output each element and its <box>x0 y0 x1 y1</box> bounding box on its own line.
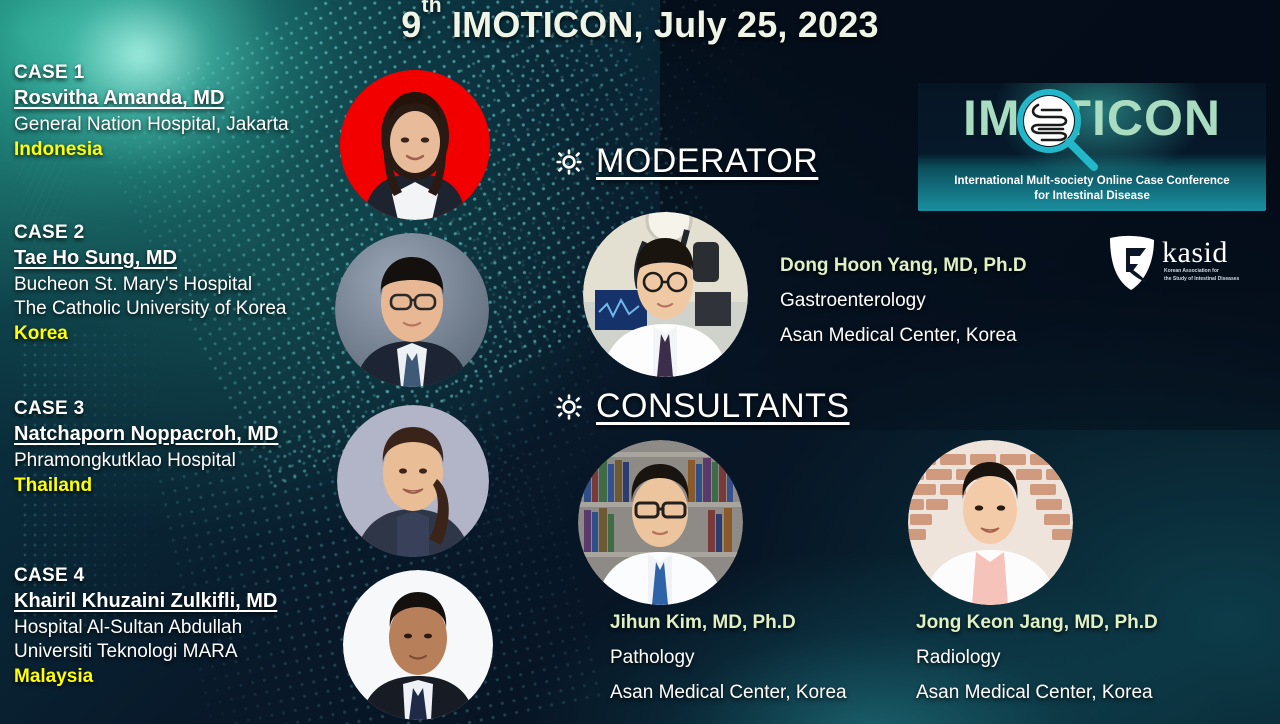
case-1-photo <box>340 70 490 220</box>
case-country: Malaysia <box>14 666 277 688</box>
case-country: Korea <box>14 323 286 345</box>
case-affiliation-line-2: The Catholic University of Korea <box>14 297 286 321</box>
consultant-1-photo <box>578 440 743 605</box>
moderator-details: Dong Hoon Yang, MD, Ph.D Gastroenterolog… <box>780 255 1027 347</box>
case-affiliation-line-1: Hospital Al-Sultan Abdullah <box>14 616 277 640</box>
presentation-slide: 9th IMOTICON, July 25, 2023 CASE 1 Rosvi… <box>0 0 1280 724</box>
moderator-section-heading: MODERATOR <box>556 142 818 181</box>
case-3-portrait <box>337 405 489 557</box>
case-2-portrait <box>335 233 489 387</box>
moderator-portrait <box>583 212 748 377</box>
case-country: Thailand <box>14 475 278 497</box>
case-affiliation: Phramongkutklao Hospital <box>14 449 278 473</box>
case-4-portrait <box>343 570 493 720</box>
person-name: Jong Keon Jang, MD, Ph.D <box>916 612 1158 634</box>
title-ordinal-suffix: th <box>422 0 442 17</box>
case-presenter-name: Natchaporn Noppacroh, MD <box>14 423 278 446</box>
case-presenter-name: Khairil Khuzaini Zulkifli, MD <box>14 590 277 613</box>
case-presenter-name: Tae Ho Sung, MD <box>14 247 286 270</box>
case-number: CASE 2 <box>14 222 286 244</box>
consultants-section-heading: CONSULTANTS <box>556 387 850 426</box>
title-ordinal: 9 <box>401 4 421 45</box>
consultants-heading-label: CONSULTANTS <box>596 387 850 426</box>
case-number: CASE 1 <box>14 62 289 84</box>
person-specialty: Radiology <box>916 647 1158 669</box>
case-number: CASE 4 <box>14 565 277 587</box>
gear-icon <box>556 394 582 420</box>
consultant-1-portrait <box>578 440 743 605</box>
imoticon-subtitle-line-2: for Intestinal Disease <box>928 189 1256 205</box>
kasid-subtitle-line-1: Korean Association for <box>1164 268 1256 276</box>
gear-icon <box>556 149 582 175</box>
moderator-heading-label: MODERATOR <box>596 142 818 181</box>
case-affiliation-line-2: Universiti Teknologi MARA <box>14 640 277 664</box>
person-specialty: Pathology <box>610 647 847 669</box>
person-name: Jihun Kim, MD, Ph.D <box>610 612 847 634</box>
consultant-2-portrait <box>908 440 1073 605</box>
case-1-portrait <box>340 70 490 220</box>
case-4-photo <box>343 570 493 720</box>
consultant-2-photo <box>908 440 1073 605</box>
case-number: CASE 3 <box>14 398 278 420</box>
person-organization: Asan Medical Center, Korea <box>916 682 1158 704</box>
case-presenter-name: Rosvitha Amanda, MD <box>14 87 289 110</box>
slide-title: 9th IMOTICON, July 25, 2023 <box>0 4 1280 46</box>
kasid-subtitle-line-2: the Study of Intestinal Diseases <box>1164 276 1256 284</box>
case-block-4: CASE 4 Khairil Khuzaini Zulkifli, MD Hos… <box>14 565 277 688</box>
kasid-wordmark: kasid <box>1162 236 1228 270</box>
imoticon-subtitle: International Mult-society Online Case C… <box>918 174 1266 205</box>
consultant-2-details: Jong Keon Jang, MD, Ph.D Radiology Asan … <box>916 612 1158 704</box>
person-name: Dong Hoon Yang, MD, Ph.D <box>780 255 1027 277</box>
kasid-subtitle: Korean Association for the Study of Inte… <box>1164 268 1256 283</box>
case-3-photo <box>337 405 489 557</box>
case-block-2: CASE 2 Tae Ho Sung, MD Bucheon St. Mary'… <box>14 222 286 345</box>
case-block-3: CASE 3 Natchaporn Noppacroh, MD Phramong… <box>14 398 278 497</box>
case-affiliation: General Nation Hospital, Jakarta <box>14 113 289 137</box>
case-country: Indonesia <box>14 139 289 161</box>
imoticon-logo: IMOTICON International Mult-society Onli… <box>918 83 1266 211</box>
person-organization: Asan Medical Center, Korea <box>780 325 1027 347</box>
imoticon-subtitle-line-1: International Mult-society Online Case C… <box>928 174 1256 190</box>
case-block-1: CASE 1 Rosvitha Amanda, MD General Natio… <box>14 62 289 161</box>
person-specialty: Gastroenterology <box>780 290 1027 312</box>
title-rest: IMOTICON, July 25, 2023 <box>442 4 879 45</box>
case-affiliation-line-1: Bucheon St. Mary's Hospital <box>14 273 286 297</box>
consultant-1-details: Jihun Kim, MD, Ph.D Pathology Asan Medic… <box>610 612 847 704</box>
kasid-logo: kasid Korean Association for the Study o… <box>1104 232 1254 292</box>
moderator-photo <box>583 212 748 377</box>
case-2-photo <box>335 233 489 387</box>
kasid-shield-icon <box>1104 232 1160 292</box>
person-organization: Asan Medical Center, Korea <box>610 682 847 704</box>
